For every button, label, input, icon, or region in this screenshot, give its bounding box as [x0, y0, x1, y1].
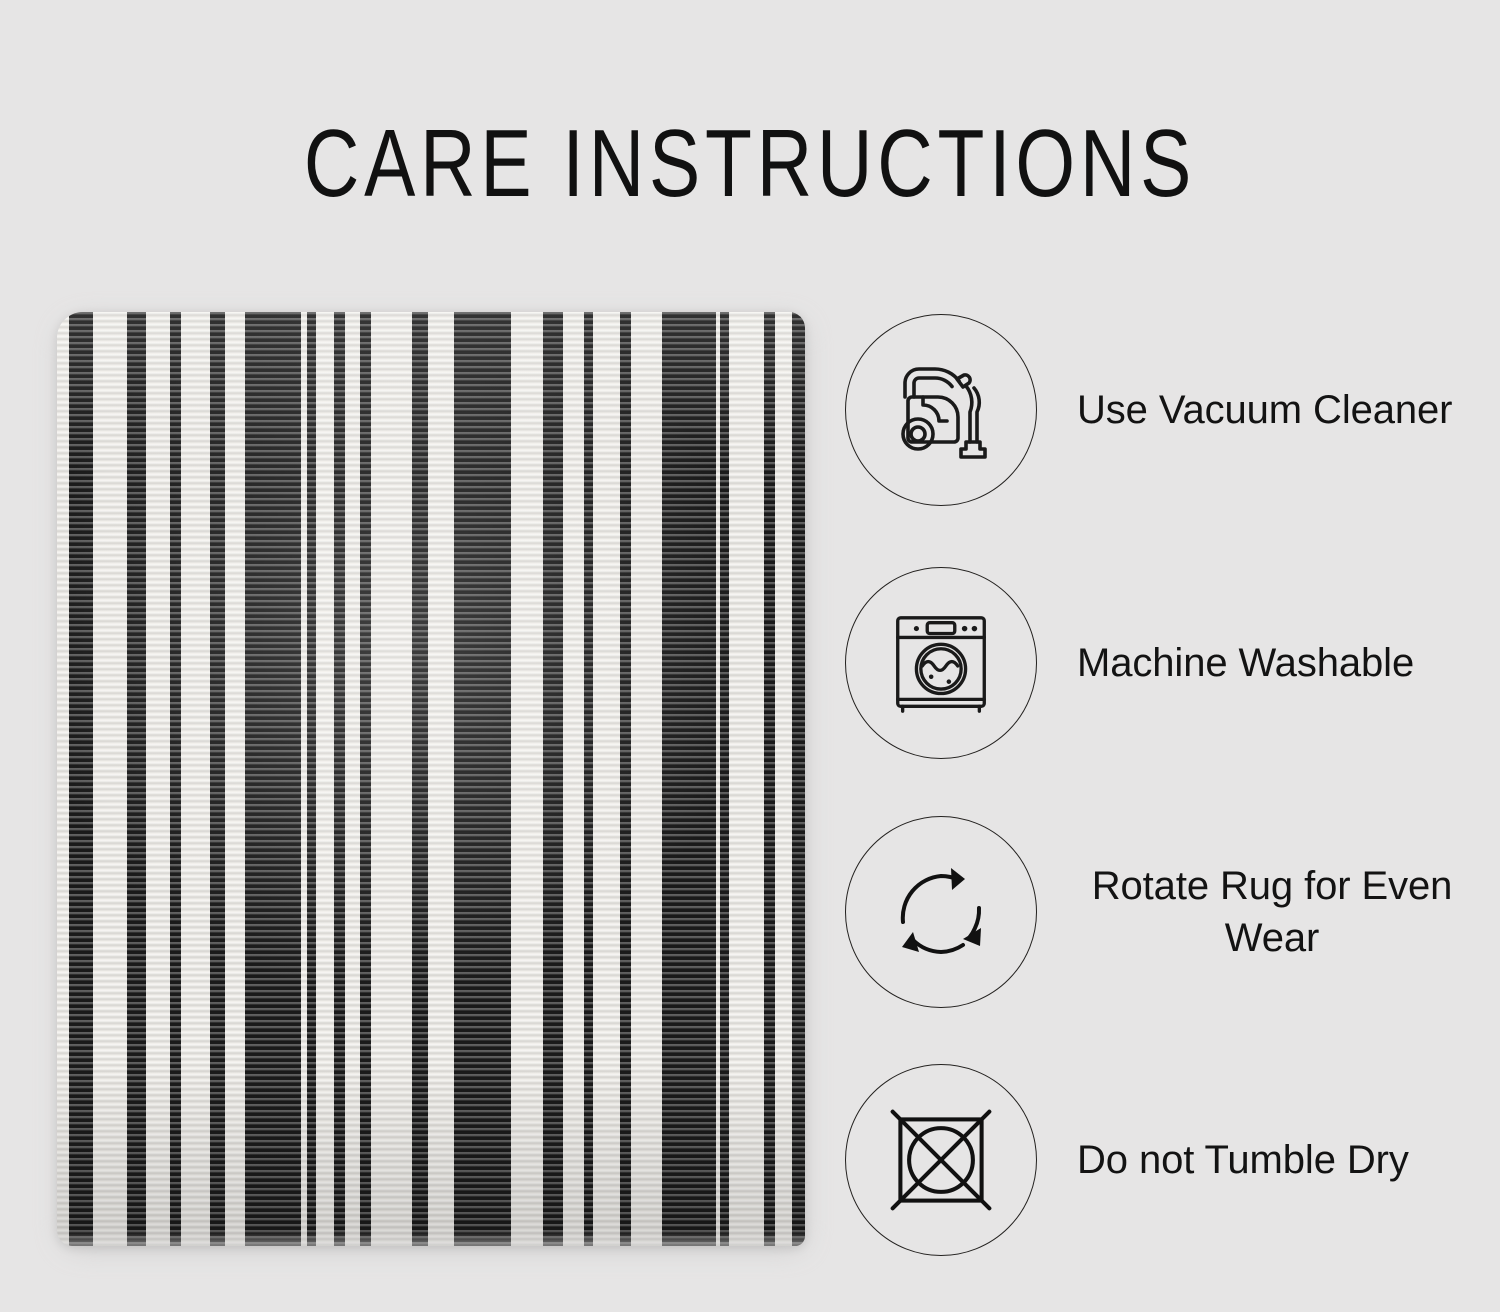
rug-stripe — [792, 312, 805, 1246]
rug-stripe — [454, 312, 511, 1246]
icon-badge-machine-wash — [845, 567, 1037, 759]
do-not-tumble-dry-icon — [883, 1102, 999, 1218]
instruction-row-vacuum: Use Vacuum Cleaner — [845, 310, 1485, 510]
rug-stripe — [307, 312, 316, 1246]
page-title: CARE INSTRUCTIONS — [150, 112, 1350, 216]
instruction-row-machine-wash: Machine Washable — [845, 563, 1485, 763]
rug-stripe — [360, 312, 371, 1246]
rotate-arrows-icon — [881, 852, 1001, 972]
rug-stripe — [543, 312, 563, 1246]
rug-stripe — [720, 312, 729, 1246]
instruction-label-rotate: Rotate Rug for Even Wear — [1077, 860, 1485, 964]
rug-stripe — [584, 312, 593, 1246]
instruction-label-machine-wash: Machine Washable — [1077, 637, 1485, 689]
rug-stripe — [662, 312, 716, 1246]
vacuum-cleaner-icon — [881, 350, 1001, 470]
rug-stripe — [334, 312, 345, 1246]
instruction-label-no-tumble-dry: Do not Tumble Dry — [1077, 1134, 1485, 1186]
rug-stripe — [245, 312, 301, 1246]
rug-photo — [57, 312, 805, 1246]
rug-stripe-pattern — [57, 312, 805, 1246]
rug-stripe — [127, 312, 146, 1246]
rug-stripe — [69, 312, 93, 1246]
rug-stripe — [170, 312, 181, 1246]
instruction-row-no-tumble-dry: Do not Tumble Dry — [845, 1060, 1485, 1260]
rug-stripe — [412, 312, 428, 1246]
instruction-row-rotate: Rotate Rug for Even Wear — [845, 812, 1485, 1012]
rug-stripe — [210, 312, 225, 1246]
icon-badge-rotate — [845, 816, 1037, 1008]
washing-machine-icon — [882, 604, 1000, 722]
icon-badge-vacuum — [845, 314, 1037, 506]
care-instructions-page: CARE INSTRUCTIONS — [0, 0, 1500, 1312]
rug-stripe — [764, 312, 775, 1246]
rug-stripe — [620, 312, 631, 1246]
icon-badge-no-tumble-dry — [845, 1064, 1037, 1256]
instruction-label-vacuum: Use Vacuum Cleaner — [1077, 384, 1485, 436]
product-image-rug — [55, 306, 807, 1246]
